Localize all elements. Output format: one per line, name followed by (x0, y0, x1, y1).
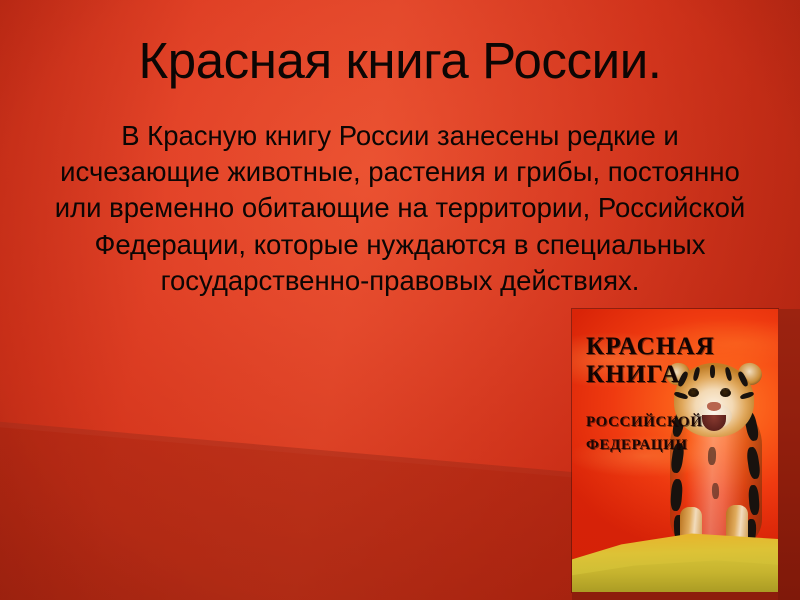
book-cover-title-line-2: КНИГА (586, 361, 680, 389)
slide-title: Красная книга России. (0, 31, 800, 91)
book-cover-image: КРАСНАЯ КНИГА РОССИЙСКОЙ ФЕДЕРАЦИИ (572, 309, 778, 592)
book-cover-subtitle-line-2: ФЕДЕРАЦИИ (586, 437, 688, 454)
book-bottom-edge (572, 592, 778, 600)
slide-body-text: В Красную книгу России занесены редкие и… (52, 118, 748, 299)
tiger-eye-right (720, 389, 731, 397)
book-cover-subtitle-line-1: РОССИЙСКОЙ (586, 414, 703, 431)
tiger-eye-left (688, 389, 699, 397)
tiger-nose (707, 402, 721, 411)
book-cover-title-line-1: КРАСНАЯ (586, 333, 715, 361)
book-side-strip (778, 309, 800, 600)
tiger-stripe (710, 365, 715, 378)
tiger-stripe (712, 483, 720, 499)
tiger-stripe (708, 447, 717, 465)
presentation-slide: Красная книга России. В Красную книгу Ро… (0, 0, 800, 600)
